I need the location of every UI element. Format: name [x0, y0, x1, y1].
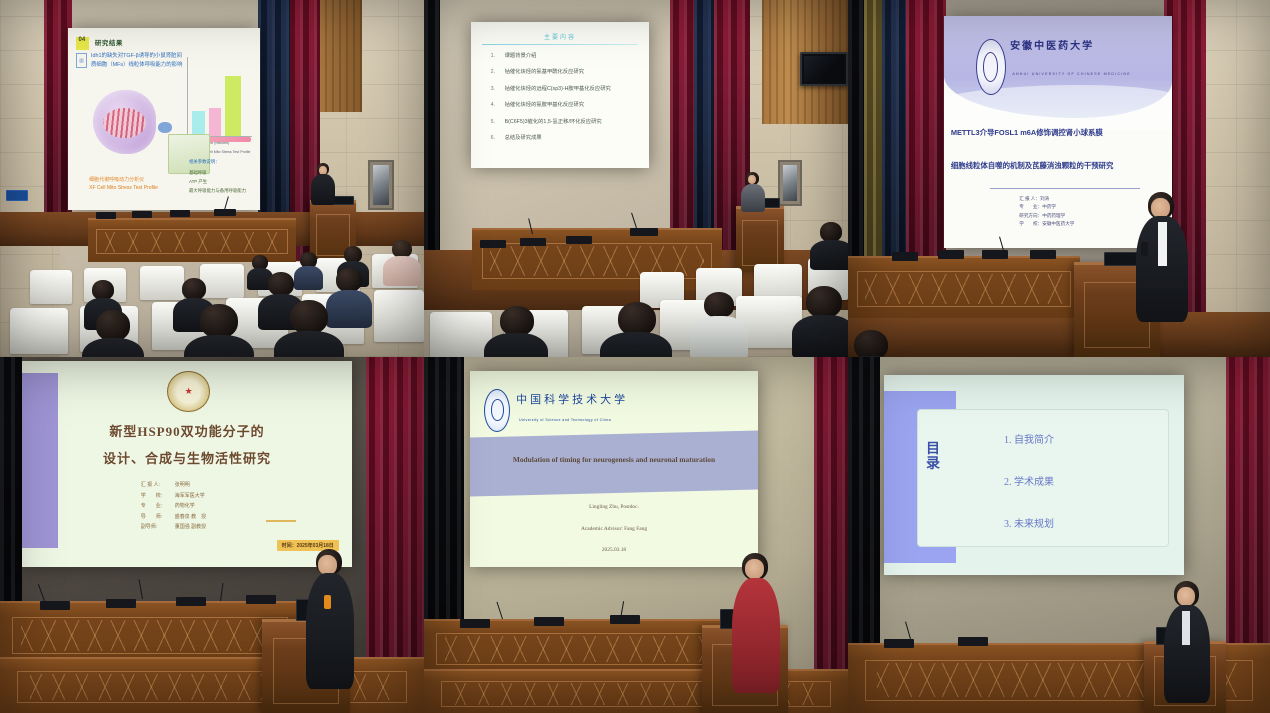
presenter-meta: 汇 报 人:张明明 学 校:海军军医大学 专 业:药物化学 导 师:盛春泉 教 …: [141, 480, 206, 533]
slide-outline: 主要内容 1.课题背景介绍 2.钴催化炔烃的氨基甲酰化反应研究 3.钴催化炔烃的…: [471, 22, 649, 168]
presenter-face: [1151, 198, 1170, 218]
university-emblem-icon: [976, 39, 1006, 95]
desk-nameplate: [630, 228, 658, 236]
meta-key: 导 师:: [141, 512, 175, 523]
section-title: 研究结果: [95, 37, 123, 47]
slide-bullets: 相关参数说明： 基础呼吸 ATP 产生 最大呼吸能力与备用呼吸能力: [189, 158, 252, 195]
desk-nameplate: [958, 637, 988, 646]
meta-value: 张明明: [175, 482, 190, 488]
item-label: B(C6F5)3催化的1,5-氢正移/环化反应研究: [505, 120, 602, 125]
subtitle-line-1: Idh1的缺失对TGF-β诱导的小鼠肾脏间: [91, 53, 182, 59]
slide-ustc-title: 中国科学技术大学 University of Science and Techn…: [470, 371, 758, 567]
desk-nameplate: [96, 212, 116, 219]
slide-contents: 目录 1. 自我简介 2. 学术成果 3. 未来规划: [884, 375, 1184, 575]
slide-title: Modulation of timing for neurogenesis an…: [476, 455, 753, 464]
photo-collage: 04 研究结果 ▥ Idh1的缺失对TGF-β诱导的小鼠肾脏间 质细胞（MFs）…: [0, 0, 1270, 713]
figure-caption: 细胞代谢呼吸动力分析仪 XF Cell Mito Stress Test Pro…: [89, 176, 158, 192]
desk-nameplate: [610, 615, 640, 624]
meta-value: 董国强 副教授: [175, 524, 206, 530]
figure-caption-en: XF Cell Mito Stress Test Profile: [89, 185, 158, 191]
presenter: [740, 172, 766, 212]
meta-key: 研究方向: [1019, 213, 1037, 218]
panel-desk: [0, 601, 300, 665]
title-divider: [990, 188, 1141, 189]
list-item: 5.B(C6F5)3催化的1,5-氢正移/环化反应研究: [491, 120, 639, 125]
contents-label: 目录: [926, 443, 941, 472]
desk-nameplate: [106, 599, 136, 608]
meta-row: 汇 报 人：刘涛: [1019, 195, 1074, 203]
meta-row: 专 业:药物化学: [141, 501, 206, 512]
slide-title-line-1: METTL3介导FOSL1 m6A修饰调控肾小球系膜: [951, 127, 1172, 138]
slide-title-line-2: 细胞线粒体自噬的机制及芪藤消浊颗粒的干预研究: [951, 160, 1172, 171]
item-number: 6.: [491, 136, 500, 141]
presenter: [1164, 581, 1210, 703]
stage-curtain-navy: [694, 0, 716, 261]
list-item: 1.课题背景介绍: [491, 54, 639, 59]
date-line: 2025.03.18: [470, 547, 758, 553]
presenter-microphone: [1141, 242, 1148, 256]
item-number: 4.: [491, 103, 500, 108]
bullet-item: 最大呼吸能力与备用呼吸能力: [189, 187, 252, 196]
bullet-item: 基础呼吸: [189, 169, 252, 178]
subtitle-line-2: 质细胞（MFs）线粒体呼吸能力的影响: [91, 62, 182, 68]
presenter-face: [748, 175, 756, 184]
meta-row: 专 业：中药学: [1019, 203, 1074, 211]
meta-key: 学 校: [1019, 221, 1037, 226]
slide-title-line-2: 设计、合成与生物活性研究: [22, 448, 352, 467]
panel-bottom-right: 目录 1. 自我简介 2. 学术成果 3. 未来规划: [848, 357, 1270, 713]
desk-nameplate: [1030, 250, 1056, 259]
list-item: 2.钴催化炔烃的氨基甲酰化反应研究: [491, 70, 639, 75]
audience-chair: [430, 312, 492, 357]
figure-caption-cn: 细胞代谢呼吸动力分析仪: [89, 176, 158, 184]
desk-nameplate: [938, 250, 964, 259]
audience-chair: [10, 308, 68, 354]
desk-nameplate: [534, 617, 564, 626]
desk-nameplate: [480, 240, 506, 248]
control-room-window: [368, 160, 394, 210]
panel-bottom-left: 新型HSP90双功能分子的 设计、合成与生物活性研究 汇 报 人:张明明 学 校…: [0, 357, 424, 713]
exit-sign: [6, 190, 28, 201]
item-label: 课题背景介绍: [505, 54, 537, 59]
panel-desk: [472, 228, 722, 290]
desk-nameplate: [246, 595, 276, 604]
meta-key: 专 业:: [141, 501, 175, 512]
university-name-en: ANHUI UNIVERSITY OF CHINESE MEDICINE: [1012, 72, 1130, 76]
audience-chair: [200, 264, 244, 298]
university-name-en: University of Science and Technology of …: [519, 418, 611, 422]
meta-value: 中药学: [1042, 204, 1056, 209]
projection-screen: 主要内容 1.课题背景介绍 2.钴催化炔烃的氨基甲酰化反应研究 3.钴催化炔烃的…: [471, 22, 649, 168]
desk-nameplate: [132, 211, 152, 218]
desk-nameplate: [884, 639, 914, 648]
slide-title-line-1: 新型HSP90双功能分子的: [22, 421, 352, 440]
mito-stress-chart: [187, 57, 252, 137]
chart-bar-1: [192, 111, 205, 136]
contents-item: 3. 未来规划: [1004, 515, 1054, 530]
presenter-body: [732, 578, 780, 693]
presenter-shirt: [1182, 611, 1190, 645]
presenter-face: [1177, 587, 1195, 606]
panel-top-left: 04 研究结果 ▥ Idh1的缺失对TGF-β诱导的小鼠肾脏间 质细胞（MFs）…: [0, 0, 424, 357]
contents-item: 2. 学术成果: [1004, 473, 1054, 488]
meta-row: 学 校：安徽中医药大学: [1019, 220, 1074, 228]
university-name-cn: 中国科学技术大学: [516, 391, 628, 407]
auditorium-scene: 安徽中医药大学 ANHUI UNIVERSITY OF CHINESE MEDI…: [848, 0, 1270, 357]
meta-value: 安徽中医药大学: [1042, 221, 1074, 226]
auditorium-scene: 新型HSP90双功能分子的 设计、合成与生物活性研究 汇 报 人:张明明 学 校…: [0, 357, 424, 713]
presenter-face: [318, 555, 337, 575]
advisor-line: Academic Advisor: Fang Fang: [470, 526, 758, 532]
meta-value: 中药药理学: [1042, 213, 1065, 218]
desk-nameplate: [460, 619, 490, 628]
meta-row: 学 校:海军军医大学: [141, 491, 206, 502]
university-name-cn: 安徽中医药大学: [1010, 37, 1094, 52]
wall-monitor: [800, 52, 848, 86]
presenter-meta: 汇 报 人：刘涛 专 业：中药学 研究方向：中药药理学 学 校：安徽中医药大学: [1019, 195, 1074, 229]
desk-nameplate: [892, 252, 918, 261]
outline-list: 1.课题背景介绍 2.钴催化炔烃的氨基甲酰化反应研究 3.钴催化炔烃的远程C(s…: [491, 54, 639, 152]
meta-value: 药物化学: [175, 503, 195, 509]
item-number: 5.: [491, 120, 500, 125]
presenter-body: [311, 174, 335, 205]
slide-subtitle: Idh1的缺失对TGF-β诱导的小鼠肾脏间 质细胞（MFs）线粒体呼吸能力的影响: [91, 52, 187, 71]
list-item: 4.钴催化炔烃的氨胺甲基化反应研究: [491, 103, 639, 108]
desk-nameplate: [40, 601, 70, 610]
desk-nameplate: [170, 210, 190, 217]
panel-bottom-center: 中国科学技术大学 University of Science and Techn…: [424, 357, 848, 713]
item-number: 2.: [491, 70, 500, 75]
university-emblem-icon: [167, 371, 210, 412]
meta-key: 汇 报 人: [1019, 196, 1035, 201]
auditorium-scene: 主要内容 1.课题背景介绍 2.钴催化炔烃的氨基甲酰化反应研究 3.钴催化炔烃的…: [424, 0, 848, 357]
auditorium-scene: 04 研究结果 ▥ Idh1的缺失对TGF-β诱导的小鼠肾脏间 质细胞（MFs）…: [0, 0, 424, 357]
panel-desk: [848, 256, 1080, 318]
item-label: 总结及研究成果: [505, 136, 542, 141]
auditorium-scene: 中国科学技术大学 University of Science and Techn…: [424, 357, 848, 713]
section-number: 04: [79, 37, 86, 43]
control-room-window: [778, 160, 802, 206]
chart-icon: ▥: [76, 53, 88, 68]
meta-value: 盛春泉 教 授: [175, 514, 206, 520]
contents-item: 1. 自我简介: [1004, 431, 1054, 446]
presenter-shirt: [1158, 222, 1167, 266]
meta-key: 汇 报 人:: [141, 480, 175, 491]
projection-screen: 新型HSP90双功能分子的 设计、合成与生物活性研究 汇 报 人:张明明 学 校…: [22, 361, 352, 567]
audience-chair: [374, 290, 424, 342]
panel-top-right: 安徽中医药大学 ANHUI UNIVERSITY OF CHINESE MEDI…: [848, 0, 1270, 357]
mitochondrion-illustration: [93, 90, 156, 154]
meta-key: 副导师:: [141, 522, 175, 533]
panel-top-center: 主要内容 1.课题背景介绍 2.钴催化炔烃的氨基甲酰化反应研究 3.钴催化炔烃的…: [424, 0, 848, 357]
item-label: 钴催化炔烃的远程C(sp3)-H胺甲基化反应研究: [505, 87, 611, 92]
projection-screen: 04 研究结果 ▥ Idh1的缺失对TGF-β诱导的小鼠肾脏间 质细胞（MFs）…: [68, 28, 260, 210]
desk-nameplate: [566, 236, 592, 244]
slide-research-results: 04 研究结果 ▥ Idh1的缺失对TGF-β诱导的小鼠肾脏间 质细胞（MFs）…: [68, 28, 260, 210]
bullets-heading: 相关参数说明：: [189, 158, 252, 167]
decor-dash: [266, 520, 296, 522]
presenter-line: Lingling Zhu, Postdoc.: [470, 504, 758, 510]
meta-value: 海军军医大学: [175, 493, 205, 499]
meta-row: 导 师:盛春泉 教 授: [141, 512, 206, 523]
stage-floor: [848, 312, 1270, 357]
bullet-item: ATP 产生: [189, 178, 252, 187]
presenter-face: [745, 559, 764, 579]
presenter: [1136, 192, 1188, 322]
desk-nameplate: [520, 238, 546, 246]
chart-bar-3: [225, 76, 240, 136]
university-emblem-icon: [484, 389, 510, 432]
stage-curtain-navy: [258, 0, 290, 247]
audience-chair: [30, 270, 72, 304]
item-label: 钴催化炔烃的氨基甲酰化反应研究: [505, 70, 584, 75]
item-number: 3.: [491, 87, 500, 92]
projection-screen: 目录 1. 自我简介 2. 学术成果 3. 未来规划: [884, 375, 1184, 575]
item-label: 钴催化炔烃的氨胺甲基化反应研究: [505, 103, 584, 108]
desk-nameplate: [176, 597, 206, 606]
chart-bar-2: [209, 108, 222, 136]
list-item: 3.钴催化炔烃的远程C(sp3)-H胺甲基化反应研究: [491, 87, 639, 92]
presenter: [310, 163, 336, 205]
projection-screen: 中国科学技术大学 University of Science and Techn…: [470, 371, 758, 567]
presenter: [306, 549, 354, 689]
audience-chair: [140, 266, 184, 300]
panel-desk-front: [0, 657, 424, 713]
list-item: 6.总结及研究成果: [491, 136, 639, 141]
auditorium-scene: 目录 1. 自我简介 2. 学术成果 3. 未来规划: [848, 357, 1270, 713]
meta-row: 副导师:董国强 副教授: [141, 522, 206, 533]
presenter: [732, 553, 780, 695]
meta-row: 汇 报 人:张明明: [141, 480, 206, 491]
title-divider: [482, 44, 639, 45]
speaker-podium: [736, 206, 784, 272]
meta-row: 研究方向：中药药理学: [1019, 212, 1074, 220]
stage-curtain-right: [814, 357, 848, 713]
slide-title: 主要内容: [471, 32, 649, 41]
meta-key: 专 业: [1019, 204, 1037, 209]
presenter-body: [306, 573, 354, 689]
presenter-microphone: [324, 595, 331, 609]
slide-hsp90-title: 新型HSP90双功能分子的 设计、合成与生物活性研究 汇 报 人:张明明 学 校…: [22, 361, 352, 567]
presenter-body: [741, 184, 765, 212]
meta-value: 刘涛: [1040, 196, 1049, 201]
meta-key: 学 校:: [141, 491, 175, 502]
item-number: 1.: [491, 54, 500, 59]
